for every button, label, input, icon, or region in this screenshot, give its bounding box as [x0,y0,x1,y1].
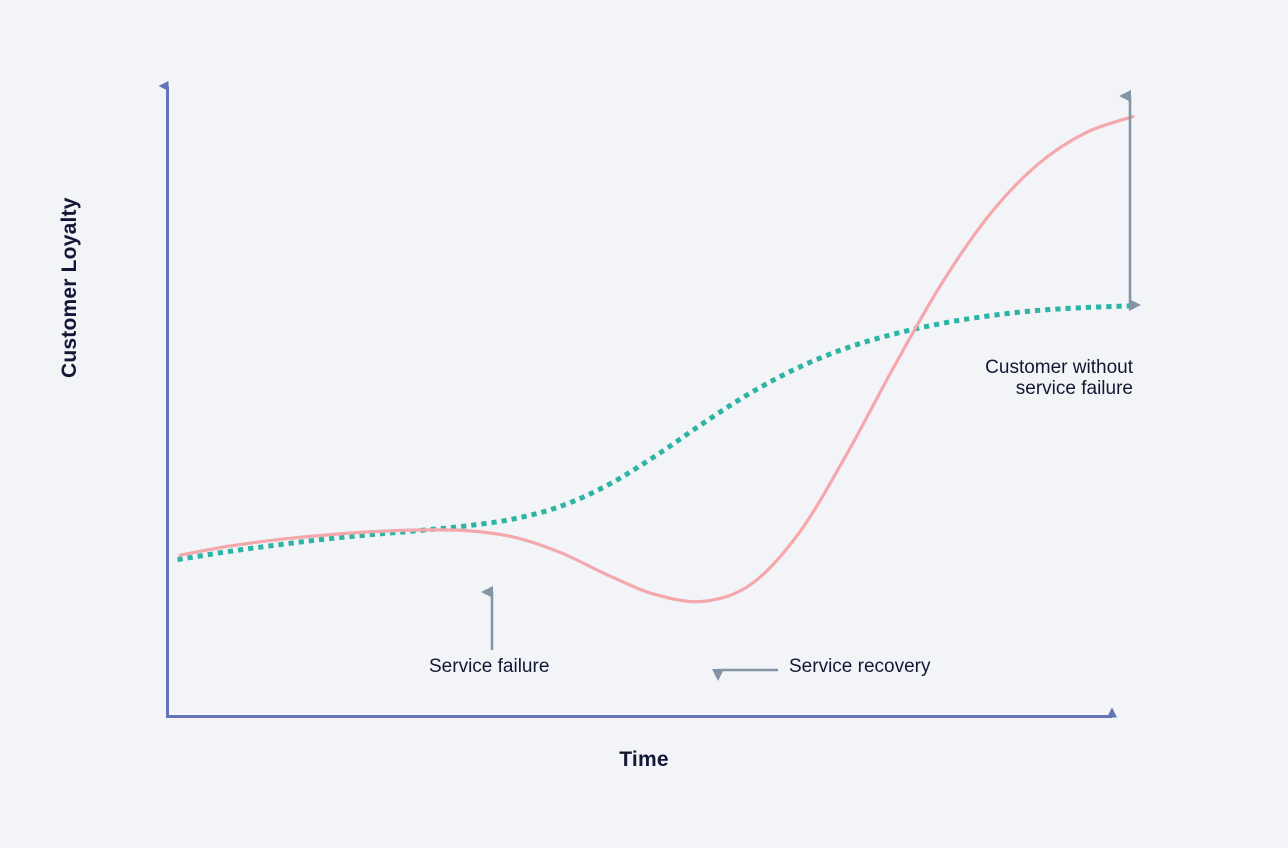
x-axis-title: Time [544,748,744,772]
y-axis-title: Customer Loyalty [58,238,82,378]
series-customer-without-service-failure [180,306,1133,559]
annotation-service-failure: Service failure [429,656,549,677]
annotation-service-recovery: Service recovery [789,656,931,677]
loyalty-recovery-chart: Customer Loyalty Time Customer without s… [0,0,1288,848]
annotation-customer-without-service-failure: Customer without service failure [833,357,1133,400]
chart-axes [166,86,1112,718]
chart-canvas [0,0,1288,848]
annotation-line-2: service failure [833,378,1133,399]
annotation-line-1: Customer without [833,357,1133,378]
